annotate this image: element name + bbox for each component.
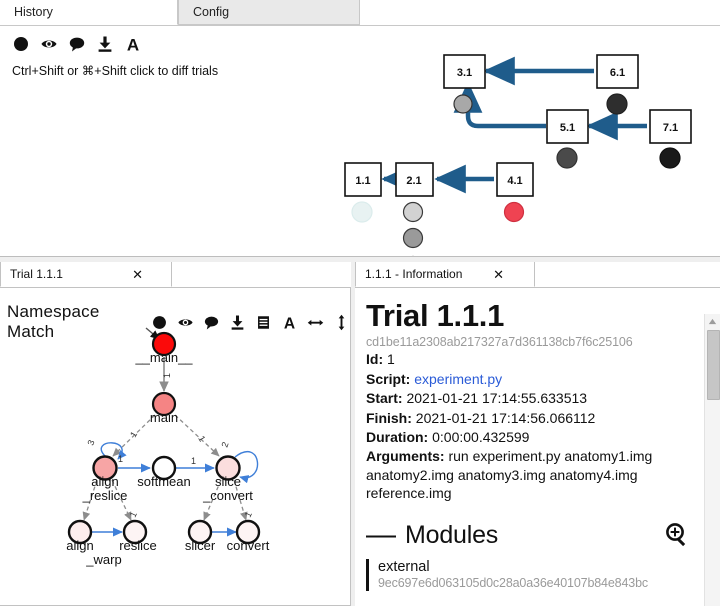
svg-text:slicer: slicer xyxy=(185,538,216,553)
namespace-graph[interactable]: 1 1 1 3 1 1 2 xyxy=(0,326,351,606)
trial-panel-tabbar: Trial 1.1.1 ✕ xyxy=(0,262,351,288)
history-node-7-1: 7.1 xyxy=(650,110,691,168)
node-convert: convert xyxy=(227,521,270,553)
field-arguments: Arguments: run experiment.py anatomy1.im… xyxy=(366,447,690,503)
history-graph[interactable]: 3.1 6.1 5.1 7.1 1.1 xyxy=(0,26,720,256)
svg-text:_warp: _warp xyxy=(85,552,121,567)
svg-text:1: 1 xyxy=(191,456,196,466)
svg-text:main: main xyxy=(150,410,178,425)
svg-text:align: align xyxy=(66,538,93,553)
trial-panel: Trial 1.1.1 ✕ Namespace Match xyxy=(0,262,351,606)
history-node-6-1: 6.1 xyxy=(597,55,638,114)
field-finish-value: 2021-01-21 17:14:56.066112 xyxy=(416,410,596,426)
tab-trial-label: Trial 1.1.1 xyxy=(10,262,63,287)
app-root: History Config xyxy=(0,0,720,606)
modules-title: Modules xyxy=(405,521,498,550)
magnifier-plus-icon[interactable] xyxy=(664,521,690,550)
field-arguments-key: Arguments: xyxy=(366,448,445,464)
field-start-key: Start: xyxy=(366,390,403,406)
page-title: Trial 1.1.1 xyxy=(366,298,690,334)
close-icon[interactable]: ✕ xyxy=(493,268,504,281)
trial-information: Trial 1.1.1 cd1be11a2308ab217327a7d36113… xyxy=(366,292,690,606)
information-scrollbar[interactable] xyxy=(704,314,720,606)
svg-text:convert: convert xyxy=(227,538,270,553)
trial-panel-body: Namespace Match xyxy=(0,288,351,606)
svg-text:_reslice: _reslice xyxy=(82,488,128,503)
information-panel: 1.1.1 - Information ✕ Trial 1.1.1 cd1be1… xyxy=(355,262,720,606)
modules-header[interactable]: — Modules xyxy=(366,521,690,550)
history-node-2-1: 2.1 xyxy=(396,163,433,222)
history-node-3-1: 3.1 xyxy=(444,55,485,113)
svg-text:7.1: 7.1 xyxy=(663,122,678,134)
node-main-top: __main__ xyxy=(134,333,193,365)
tab-trial-1-1-1[interactable]: Trial 1.1.1 ✕ xyxy=(0,262,172,287)
information-panel-tabbar: 1.1.1 - Information ✕ xyxy=(355,262,720,288)
node-softmean: softmean xyxy=(137,457,190,489)
svg-text:2: 2 xyxy=(219,441,230,449)
field-duration: Duration: 0:00:00.432599 xyxy=(366,428,690,447)
svg-text:1: 1 xyxy=(128,510,139,519)
node-align: align xyxy=(66,521,93,553)
tab-config[interactable]: Config xyxy=(178,0,360,25)
svg-text:4.1: 4.1 xyxy=(507,175,522,187)
field-script-key: Script: xyxy=(366,371,410,387)
edge-5-1-to-3-1 xyxy=(468,84,546,126)
module-hash: 9ec697e6d063105d0c28a0a36e40107b84e843bc xyxy=(378,576,690,591)
scrollbar-thumb[interactable] xyxy=(707,330,720,400)
collapse-icon[interactable]: — xyxy=(366,525,396,545)
history-node-1-1: 1.1 xyxy=(345,163,381,222)
field-finish: Finish: 2021-01-21 17:14:56.066112 xyxy=(366,409,690,428)
node-slice-convert: slice _convert xyxy=(202,457,253,504)
svg-text:__main__: __main__ xyxy=(134,350,193,365)
tab-history[interactable]: History xyxy=(0,0,178,25)
svg-text:1.1: 1.1 xyxy=(355,175,370,187)
module-name: external xyxy=(378,559,690,576)
field-start: Start: 2021-01-21 17:14:55.633513 xyxy=(366,389,690,408)
field-duration-value: 0:00:00.432599 xyxy=(432,429,529,445)
script-link[interactable]: experiment.py xyxy=(414,371,502,387)
history-pane: A Ctrl+Shift or ⌘+Shift click to diff tr… xyxy=(0,26,720,256)
field-start-value: 2021-01-21 17:14:55.633513 xyxy=(406,390,587,406)
field-duration-key: Duration: xyxy=(366,429,428,445)
svg-text:3.1: 3.1 xyxy=(457,67,472,79)
svg-text:softmean: softmean xyxy=(137,474,190,489)
field-script: Script: experiment.py xyxy=(366,370,690,389)
svg-text:1: 1 xyxy=(196,434,207,443)
svg-text:1: 1 xyxy=(118,454,123,464)
node-main: main xyxy=(150,393,178,425)
field-id-key: Id: xyxy=(366,351,383,367)
field-id-value: 1 xyxy=(387,351,395,367)
svg-text:1: 1 xyxy=(243,510,254,519)
scroll-up-icon[interactable] xyxy=(705,314,720,328)
svg-text:2.1: 2.1 xyxy=(406,175,421,187)
field-finish-key: Finish: xyxy=(366,410,412,426)
svg-text:3: 3 xyxy=(85,439,96,447)
svg-text:5.1: 5.1 xyxy=(560,122,575,134)
tab-information-label: 1.1.1 - Information xyxy=(365,262,462,287)
svg-text:1: 1 xyxy=(128,430,139,439)
svg-text:slice: slice xyxy=(215,474,241,489)
svg-text:_convert: _convert xyxy=(202,488,253,503)
svg-text:reslice: reslice xyxy=(119,538,157,553)
field-id: Id: 1 xyxy=(366,350,690,369)
node-reslice-warp: reslice _warp xyxy=(85,521,157,567)
svg-text:6.1: 6.1 xyxy=(610,67,625,79)
tab-config-label: Config xyxy=(193,5,229,19)
information-panel-body: Trial 1.1.1 cd1be11a2308ab217327a7d36113… xyxy=(355,288,720,606)
module-item[interactable]: external 9ec697e6d063105d0c28a0a36e40107… xyxy=(366,559,690,591)
tab-history-label: History xyxy=(14,5,53,19)
history-node-4-1: 4.1 xyxy=(497,163,533,222)
svg-text:1: 1 xyxy=(162,373,172,378)
main-tabstrip: History Config xyxy=(0,0,720,26)
trial-hash: cd1be11a2308ab217327a7d361138cb7f6c25106 xyxy=(366,335,690,349)
history-dot-extra-1 xyxy=(404,229,423,248)
node-slicer: slicer xyxy=(185,521,216,553)
tab-information[interactable]: 1.1.1 - Information ✕ xyxy=(355,262,535,287)
history-node-5-1: 5.1 xyxy=(547,110,588,168)
edge-main-to-slice-convert xyxy=(175,415,219,456)
close-icon[interactable]: ✕ xyxy=(132,268,143,281)
svg-text:align: align xyxy=(91,474,118,489)
